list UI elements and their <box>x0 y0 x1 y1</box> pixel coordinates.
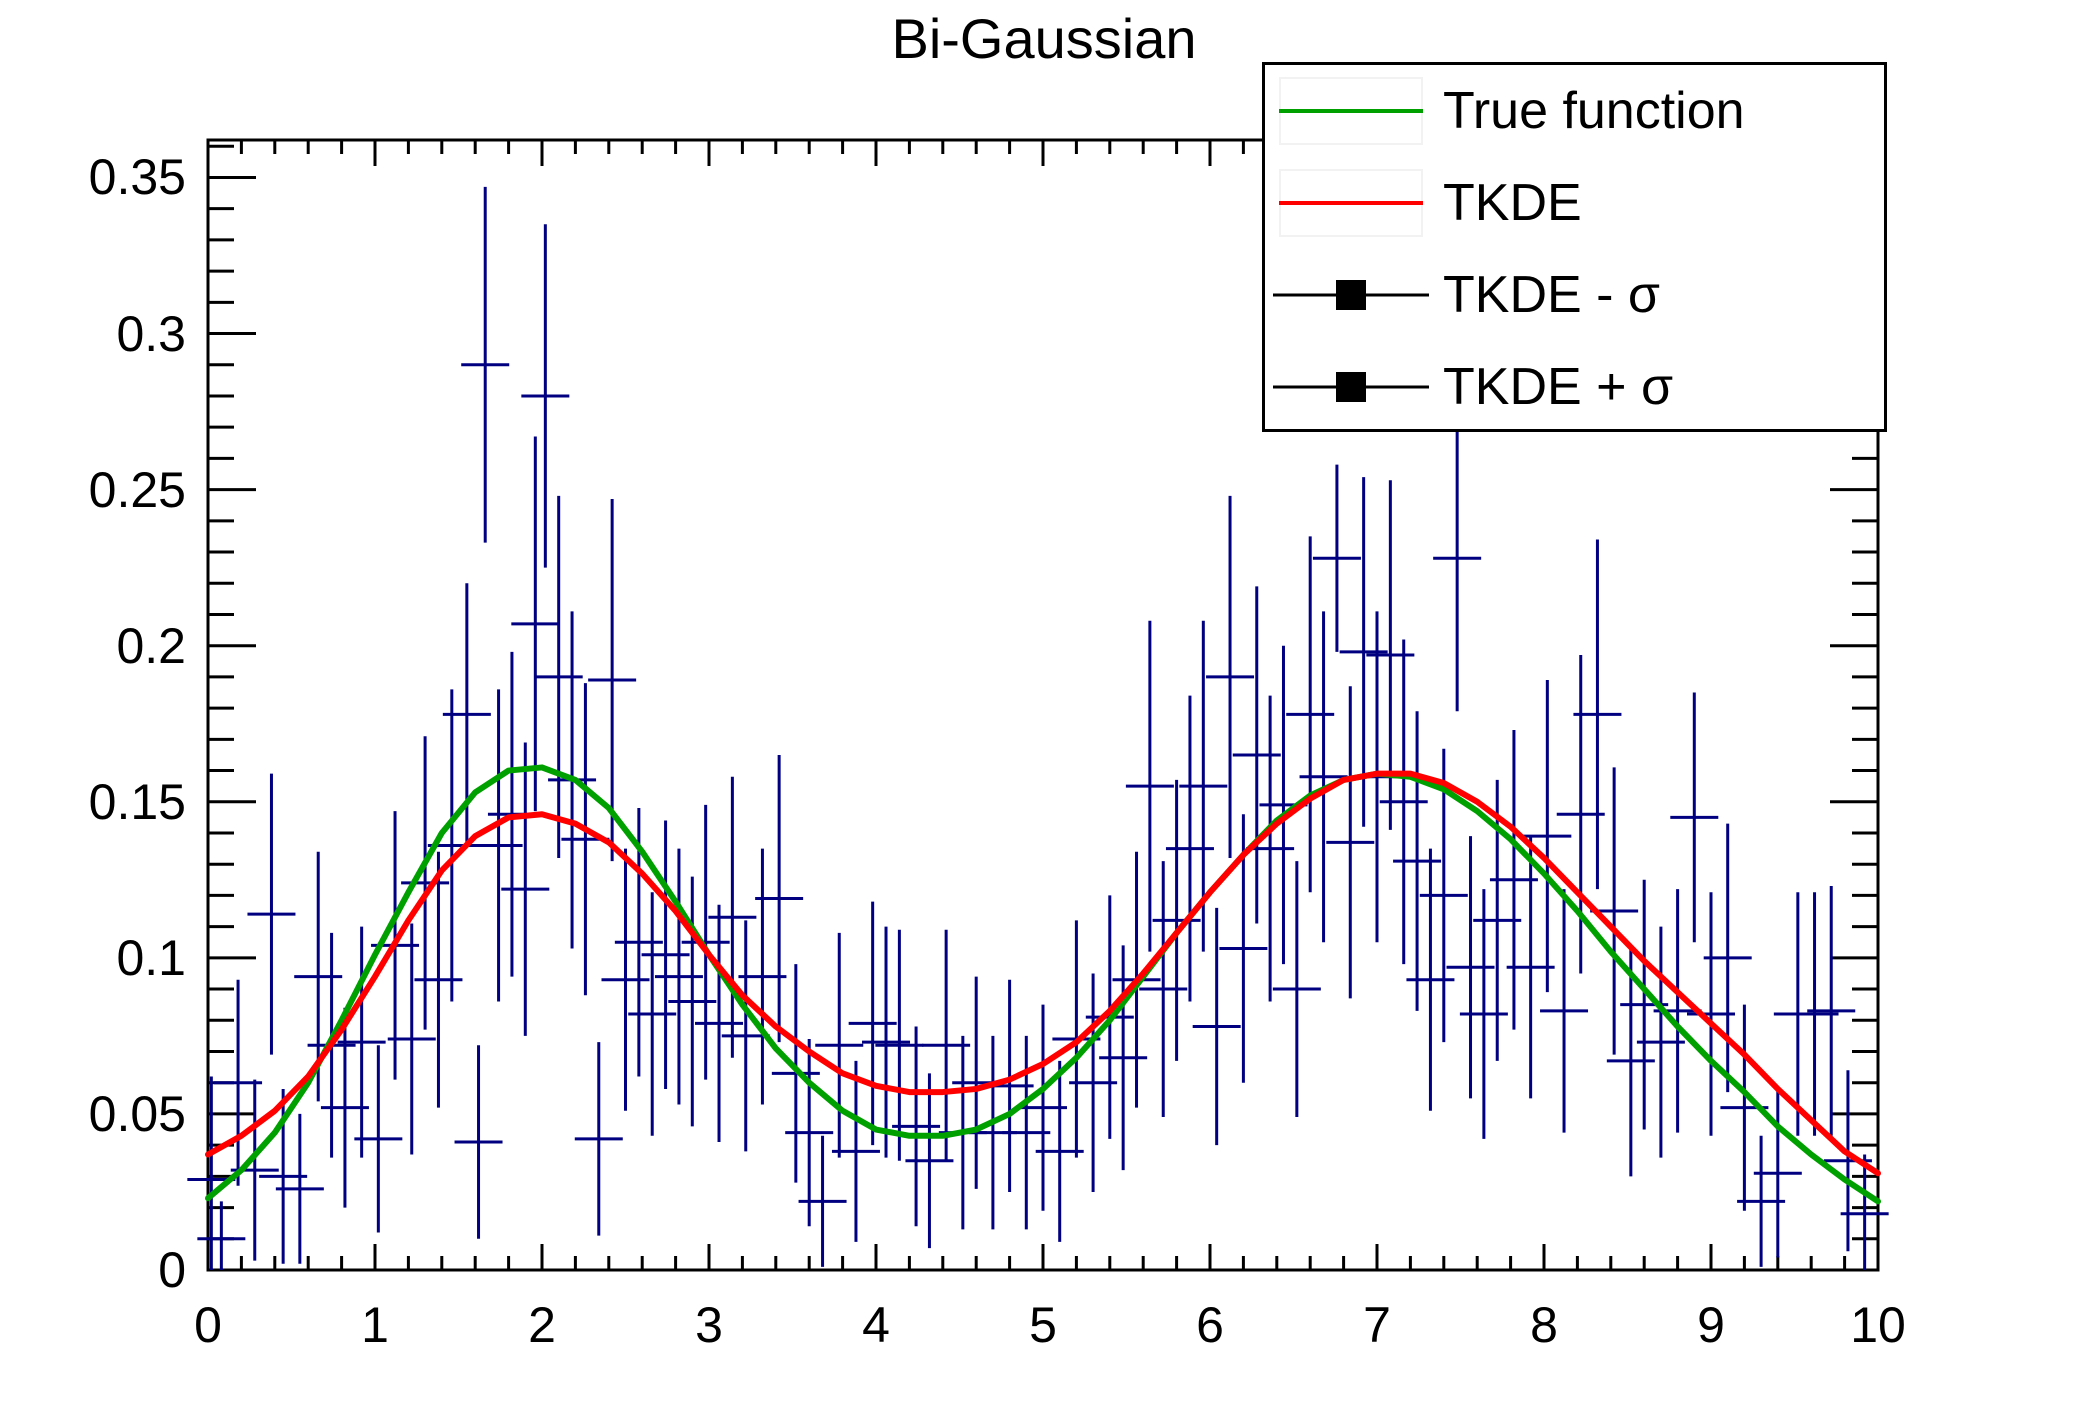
y-tick-label: 0.2 <box>116 617 186 675</box>
errorbar-point <box>1193 908 1241 1145</box>
legend-item-true-function[interactable]: True function <box>1265 65 1884 157</box>
x-tick-label: 9 <box>1697 1296 1725 1354</box>
x-tick-label: 7 <box>1363 1296 1391 1354</box>
errorbar-point <box>1139 861 1187 1117</box>
legend-item-tkde[interactable]: TKDE <box>1265 157 1884 249</box>
x-tick-label: 2 <box>528 1296 556 1354</box>
legend-item-tkde-plus-sigma[interactable]: TKDE + σ <box>1265 341 1884 433</box>
y-tick-label: 0.1 <box>116 929 186 987</box>
errorbar-point <box>575 1042 623 1236</box>
errorbar-point <box>511 437 559 812</box>
legend-key-line-green <box>1265 65 1437 157</box>
x-tick-label: 5 <box>1029 1296 1057 1354</box>
errorbar-point <box>602 849 650 1111</box>
errorbar-point <box>1460 889 1508 1139</box>
errorbar-point <box>1273 861 1321 1117</box>
errorbar-point <box>535 496 583 858</box>
errorbar-point <box>247 774 295 1055</box>
errorbar-point <box>1433 405 1481 711</box>
x-tick-label: 10 <box>1850 1296 1906 1354</box>
errorbar-point <box>521 224 569 567</box>
x-tick-label: 6 <box>1196 1296 1224 1354</box>
errorbar-point <box>1300 611 1348 942</box>
legend-key-marker-minus <box>1265 249 1437 341</box>
errorbar-point <box>655 849 703 1105</box>
square-marker-icon <box>1336 280 1366 310</box>
errorbar-point <box>1153 780 1201 1061</box>
legend-label-tkde-minus-sigma: TKDE - σ <box>1437 269 1660 321</box>
x-tick-label: 3 <box>695 1296 723 1354</box>
x-tick-label: 1 <box>361 1296 389 1354</box>
errorbar-point <box>1380 639 1428 964</box>
x-tick-label: 4 <box>862 1296 890 1354</box>
errorbar-point <box>401 736 449 1029</box>
legend-label-tkde: TKDE <box>1437 177 1582 229</box>
y-tick-label: 0.3 <box>116 305 186 363</box>
errorbar-point <box>501 742 549 1035</box>
errorbar-point <box>475 689 523 1001</box>
errorbar-point <box>588 499 636 861</box>
y-tick-label: 0 <box>158 1241 186 1299</box>
errorbar-point <box>187 1076 235 1270</box>
errorbar-point <box>414 852 462 1108</box>
errorbar-point <box>197 1201 245 1270</box>
legend-key-line-red <box>1265 157 1437 249</box>
legend[interactable]: True function TKDE TKDE - σ TKDE + σ <box>1262 62 1887 432</box>
errorbar-point <box>461 187 509 543</box>
errorbar-point <box>1233 586 1281 923</box>
x-tick-label: 8 <box>1530 1296 1558 1354</box>
green-line-swatch <box>1279 109 1423 113</box>
errorbar-point <box>1126 621 1174 952</box>
errorbar-point <box>1406 849 1454 1111</box>
y-tick-label: 0.35 <box>89 148 186 206</box>
errorbar-point <box>1206 496 1254 858</box>
x-tick-label: 0 <box>194 1296 222 1354</box>
errorbar-point <box>628 892 676 1135</box>
y-tick-label: 0.15 <box>89 773 186 831</box>
legend-label-tkde-plus-sigma: TKDE + σ <box>1437 361 1673 413</box>
errorbar-point <box>682 805 730 1080</box>
y-tick-label: 0.25 <box>89 461 186 519</box>
red-line-swatch <box>1279 201 1423 205</box>
errorbar-point <box>1166 696 1214 1002</box>
chart-canvas: Bi-Gaussian 00.050.10.150.20.250.30.35 0… <box>0 0 2088 1416</box>
errorbar-point <box>1286 536 1334 892</box>
errorbar-point <box>1393 711 1441 1011</box>
y-tick-label: 0.05 <box>89 1085 186 1143</box>
legend-item-tkde-minus-sigma[interactable]: TKDE - σ <box>1265 249 1884 341</box>
errorbar-point <box>455 1045 503 1239</box>
square-marker-icon <box>1336 372 1366 402</box>
errorbar-point <box>1326 686 1374 998</box>
legend-label-true-function: True function <box>1437 85 1745 137</box>
errorbar-point <box>1447 836 1495 1098</box>
legend-key-marker-plus <box>1265 341 1437 433</box>
errorbar-point <box>1313 465 1361 652</box>
